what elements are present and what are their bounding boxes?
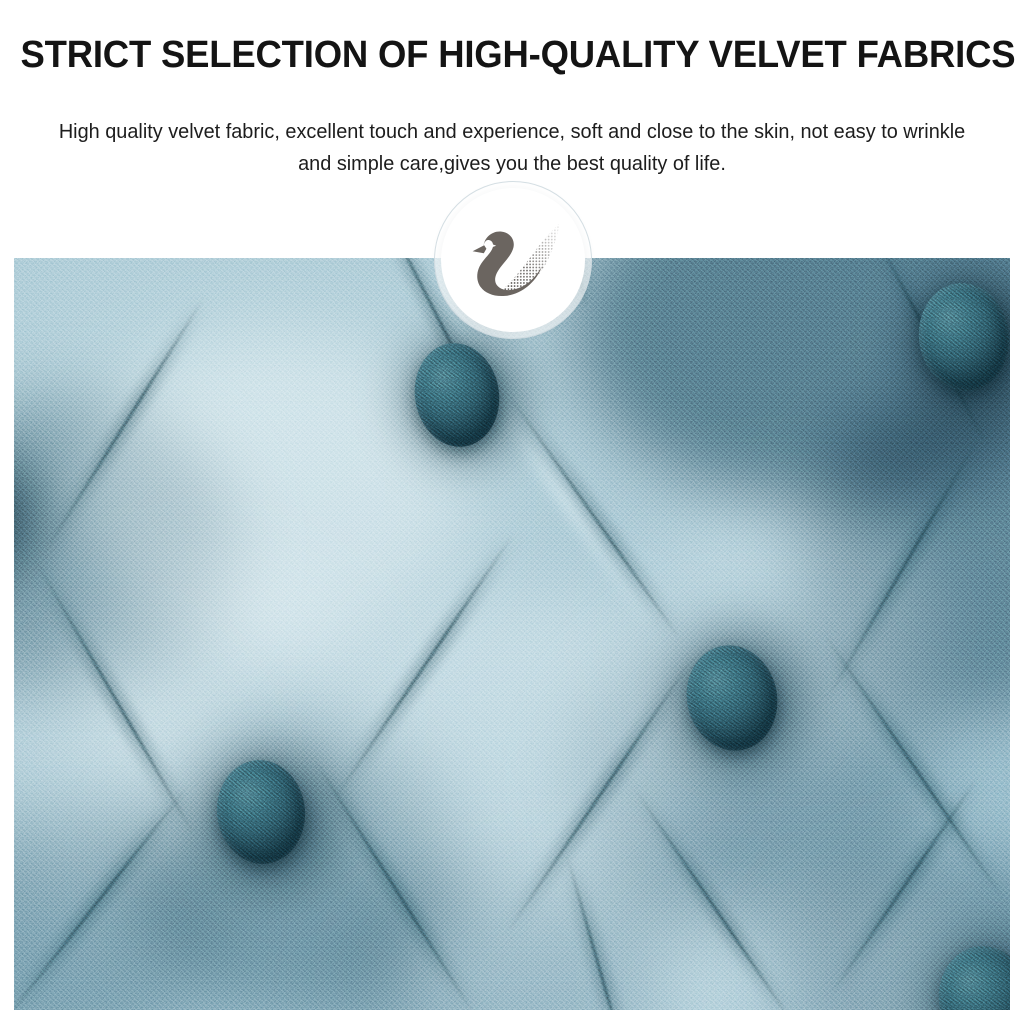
swan-logo-icon xyxy=(461,217,565,303)
velvet-texture-fine xyxy=(14,258,1010,1010)
fabric-photo: Close-up of light blue tufted velvet uph… xyxy=(14,258,1010,1010)
page-subtitle: High quality velvet fabric, excellent to… xyxy=(44,116,979,180)
product-banner: STRICT SELECTION OF HIGH-QUALITY VELVET … xyxy=(0,0,1024,1024)
brand-badge: Swan brand logo xyxy=(441,188,585,332)
page-title: STRICT SELECTION OF HIGH-QUALITY VELVET … xyxy=(20,33,1003,77)
